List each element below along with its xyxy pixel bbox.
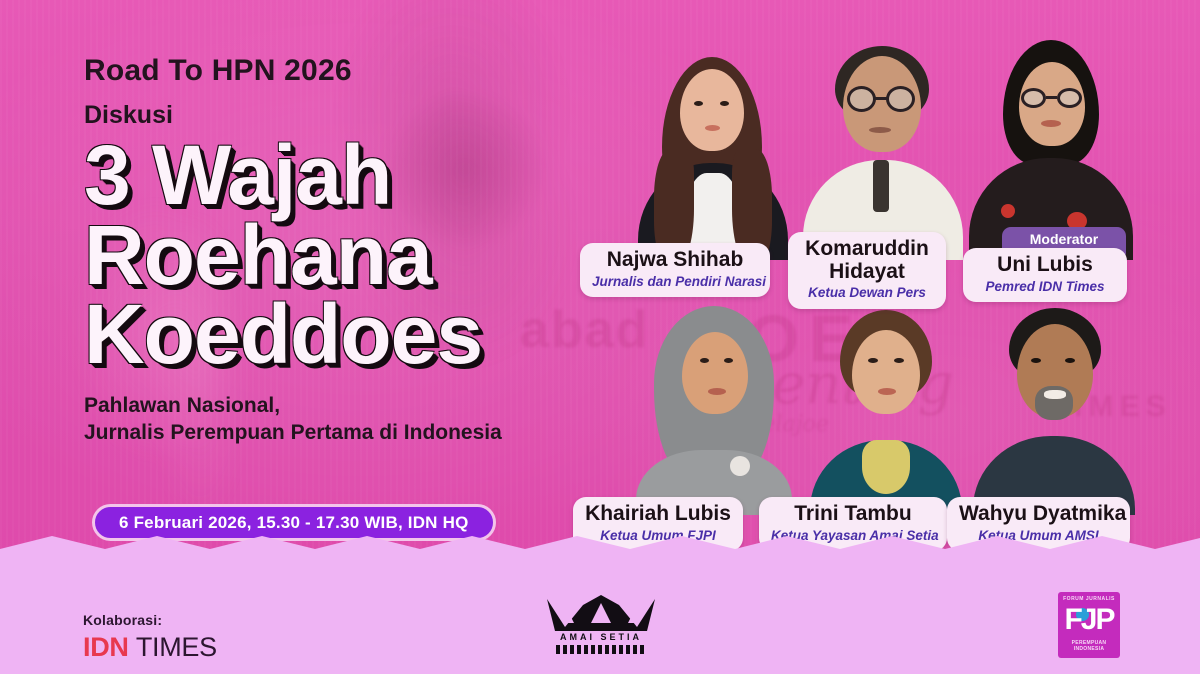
speaker-role: Pemred IDN Times xyxy=(975,279,1115,295)
event-tagline-line-2: Jurnalis Perempuan Pertama di Indonesia xyxy=(84,420,604,447)
speaker-card-uni-lubis: Uni Lubis Pemred IDN Times xyxy=(963,248,1127,302)
idn-logo-text: IDN xyxy=(83,632,129,662)
portrait-uni-lubis xyxy=(963,32,1138,260)
portrait-khairiah-lubis xyxy=(624,300,804,515)
portrait-figure xyxy=(795,32,970,260)
speaker-name: Najwa Shihab xyxy=(592,249,758,272)
event-kicker: Road To HPN 2026 xyxy=(84,55,604,87)
eyeglasses-icon xyxy=(886,86,915,112)
speaker-card-najwa-shihab: Najwa Shihab Jurnalis dan Pendiri Narasi xyxy=(580,243,770,297)
event-tagline: Pahlawan Nasional, Jurnalis Perempuan Pe… xyxy=(84,393,604,447)
collaboration-label: Kolaborasi: xyxy=(83,612,217,628)
portrait-figure xyxy=(624,300,804,515)
speaker-name: Trini Tambu xyxy=(771,503,935,526)
page-title-line-1: 3 Wajah xyxy=(84,136,604,216)
speaker-role: Jurnalis dan Pendiri Narasi xyxy=(592,274,758,290)
speaker-card-komaruddin-hidayat: Komaruddin Hidayat Ketua Dewan Pers xyxy=(788,232,946,309)
portrait-komaruddin-hidayat xyxy=(795,32,970,260)
speaker-name: Wahyu Dyatmika xyxy=(959,503,1118,526)
page-title: 3 Wajah Roehana Koeddoes xyxy=(84,136,604,375)
portrait-najwa-shihab xyxy=(620,45,805,260)
eyeglasses-icon xyxy=(847,86,876,112)
event-subkicker: Diskusi xyxy=(84,102,604,128)
amai-setia-sublabel-bar xyxy=(556,645,646,654)
headline-block: Road To HPN 2026 Diskusi 3 Wajah Roehana… xyxy=(84,55,604,447)
event-poster: abad ROE TIMES Soenting Melajoe Road To … xyxy=(0,0,1200,674)
portrait-figure xyxy=(965,300,1143,515)
portrait-trini-tambu xyxy=(800,300,972,515)
times-logo-text: TIMES xyxy=(136,632,217,662)
fjpi-logo: FORUM JURNALIS FJP PEREMPUAN INDONESIA xyxy=(1058,592,1120,658)
page-title-line-3: Koeddoes xyxy=(84,295,604,375)
speaker-name: Khairiah Lubis xyxy=(585,503,731,526)
portrait-figure xyxy=(800,300,972,515)
amai-setia-label: AMAI SETIA xyxy=(543,632,659,642)
amai-setia-logo: AMAI SETIA xyxy=(543,593,659,659)
fjpi-top-label: FORUM JURNALIS xyxy=(1058,596,1120,602)
zigzag-divider xyxy=(0,536,1200,563)
collaboration-block: Kolaborasi: IDN TIMES xyxy=(83,612,217,663)
idn-times-logo: IDN TIMES xyxy=(83,632,217,663)
portrait-figure xyxy=(963,32,1138,260)
event-tagline-line-1: Pahlawan Nasional, xyxy=(84,393,604,420)
fjpi-bottom-label: PEREMPUAN INDONESIA xyxy=(1058,640,1120,652)
fjpi-mark: FJP xyxy=(1058,605,1120,635)
speaker-name: Uni Lubis xyxy=(975,254,1115,277)
speaker-role: Ketua Dewan Pers xyxy=(800,285,934,301)
portrait-wahyu-dyatmika xyxy=(965,300,1143,515)
speaker-name: Komaruddin Hidayat xyxy=(800,238,934,283)
portrait-figure xyxy=(620,45,805,260)
page-title-line-2: Roehana xyxy=(84,216,604,296)
crown-icon xyxy=(543,593,659,633)
